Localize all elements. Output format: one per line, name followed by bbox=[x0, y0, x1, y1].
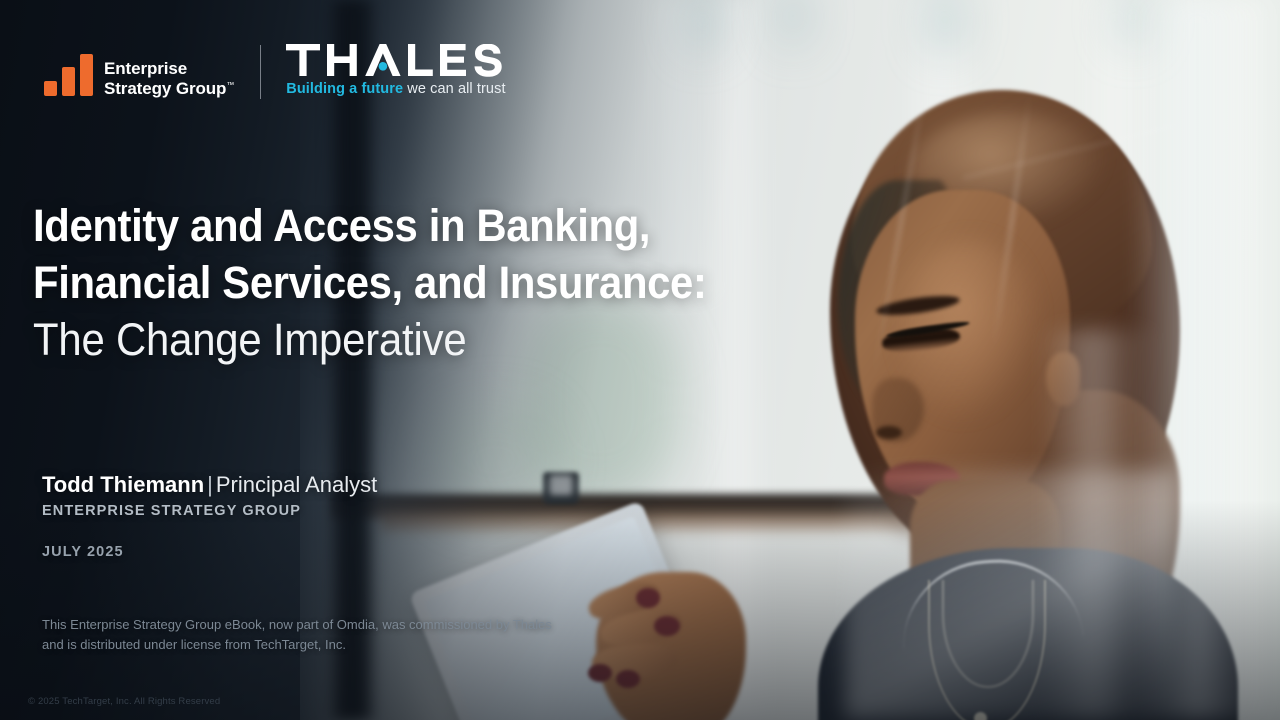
author-name: Todd Thiemann bbox=[42, 472, 204, 497]
page-subtitle: The Change Imperative bbox=[33, 311, 805, 370]
cover-content: Enterprise Strategy Group™ bbox=[0, 0, 1280, 720]
publication-date: JULY 2025 bbox=[42, 544, 377, 560]
author-role: Principal Analyst bbox=[216, 472, 377, 497]
disclaimer-text: This Enterprise Strategy Group eBook, no… bbox=[42, 615, 562, 654]
thales-logo: Building a future we can all trust bbox=[286, 44, 526, 97]
logo-bar: Enterprise Strategy Group™ bbox=[44, 42, 526, 102]
esg-wordmark-line2: Strategy Group™ bbox=[104, 79, 234, 99]
author-separator: | bbox=[204, 472, 216, 497]
esg-wordmark-line1: Enterprise bbox=[104, 59, 234, 79]
esg-logo: Enterprise Strategy Group™ bbox=[44, 46, 234, 98]
copyright-text: © 2025 TechTarget, Inc. All Rights Reser… bbox=[28, 696, 220, 707]
thales-wordmark bbox=[286, 44, 526, 78]
page-title-line-1: Identity and Access in Banking, bbox=[33, 198, 805, 255]
thales-tagline: Building a future we can all trust bbox=[286, 81, 526, 97]
tagline-accent: Building a future bbox=[286, 81, 403, 97]
title-block: Identity and Access in Banking, Financia… bbox=[33, 198, 863, 370]
author-block: Todd Thiemann|Principal Analyst ENTERPRI… bbox=[42, 471, 377, 560]
tagline-rest: we can all trust bbox=[403, 81, 505, 97]
bar-chart-icon bbox=[44, 54, 93, 96]
page-title-line-2: Financial Services, and Insurance: bbox=[33, 255, 805, 312]
author-organization: ENTERPRISE STRATEGY GROUP bbox=[42, 503, 377, 519]
thales-droplet-icon bbox=[379, 62, 388, 71]
logo-divider bbox=[260, 45, 261, 99]
author-line: Todd Thiemann|Principal Analyst bbox=[42, 471, 377, 499]
esg-wordmark: Enterprise Strategy Group™ bbox=[104, 59, 234, 99]
trademark-symbol: ™ bbox=[226, 80, 234, 89]
ebook-cover: Enterprise Strategy Group™ bbox=[0, 0, 1280, 720]
